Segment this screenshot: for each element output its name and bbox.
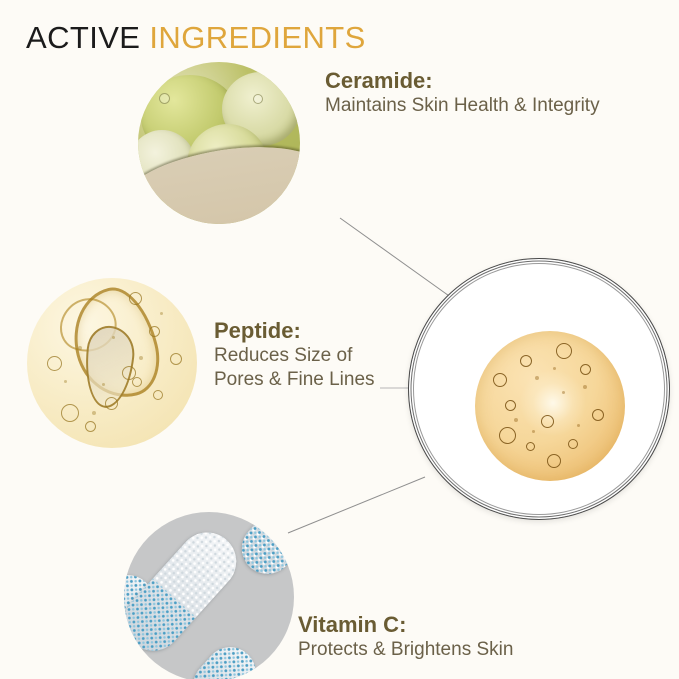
capsule-shape xyxy=(231,512,294,584)
gel-bubble-icon xyxy=(61,404,79,422)
serum-droplet xyxy=(475,331,625,481)
ceramide-heading: Ceramide: xyxy=(325,68,600,94)
serum-speck xyxy=(583,385,587,389)
vitamin-c-heading: Vitamin C: xyxy=(298,612,513,638)
serum-bubble-icon xyxy=(556,343,572,359)
serum-bubble-icon xyxy=(541,415,554,428)
peptide-description-line: Reduces Size of xyxy=(214,344,375,368)
title-word-active: ACTIVE xyxy=(26,20,140,55)
peptide-heading: Peptide: xyxy=(214,318,375,344)
gel-bubble-icon xyxy=(129,292,142,305)
gel-bubble-icon xyxy=(85,421,96,432)
serum-bubble-icon xyxy=(568,439,578,449)
vitamin-c-label-block: Vitamin C: Protects & Brightens Skin xyxy=(298,612,513,662)
serum-bubble-icon xyxy=(526,442,535,451)
page-title: ACTIVE INGREDIENTS xyxy=(26,22,366,53)
vitamin-c-description-line: Protects & Brightens Skin xyxy=(298,638,513,662)
serum-bubble-icon xyxy=(520,355,532,367)
serum-speck xyxy=(553,367,556,370)
peptide-image xyxy=(27,278,197,448)
serum-speck xyxy=(514,418,518,422)
serum-bubble-icon xyxy=(493,373,507,387)
capsule-shape xyxy=(183,636,266,679)
serum-bubble-icon xyxy=(580,364,591,375)
gel-speck xyxy=(92,411,96,415)
gel-bubble-icon xyxy=(47,356,62,371)
connector-line-ceramide xyxy=(340,218,452,298)
ceramide-label-block: Ceramide: Maintains Skin Health & Integr… xyxy=(325,68,600,118)
bubble-highlight-icon xyxy=(253,94,263,104)
gel-speck xyxy=(160,312,163,315)
serum-speck xyxy=(562,391,565,394)
serum-bubble-icon xyxy=(505,400,516,411)
serum-bubble-icon xyxy=(547,454,561,468)
gel-speck xyxy=(64,380,67,383)
gel-speck xyxy=(112,336,115,339)
serum-bubble-icon xyxy=(499,427,516,444)
vitamin-c-image xyxy=(124,512,294,679)
infographic-canvas: ACTIVE INGREDIENTS xyxy=(0,0,679,679)
ceramide-description-line: Maintains Skin Health & Integrity xyxy=(325,94,600,118)
gel-bubble-icon xyxy=(149,326,160,337)
gel-bubble-icon xyxy=(153,390,163,400)
petri-dish xyxy=(408,258,670,520)
serum-bubble-icon xyxy=(592,409,604,421)
gel-speck xyxy=(78,346,82,350)
serum-speck xyxy=(535,376,539,380)
peptide-description-line: Pores & Fine Lines xyxy=(214,368,375,392)
gel-bubble-icon xyxy=(170,353,182,365)
peptide-label-block: Peptide: Reduces Size of Pores & Fine Li… xyxy=(214,318,375,392)
gel-bubble-icon xyxy=(132,377,142,387)
bubble-highlight-icon xyxy=(159,93,170,104)
blue-beads-texture xyxy=(183,636,266,679)
gel-bubble-icon xyxy=(105,397,118,410)
serum-speck xyxy=(577,424,580,427)
title-word-ingredients: INGREDIENTS xyxy=(149,20,365,55)
connector-line-vitaminc xyxy=(288,477,425,533)
ceramide-image xyxy=(138,62,300,224)
serum-speck xyxy=(532,430,535,433)
